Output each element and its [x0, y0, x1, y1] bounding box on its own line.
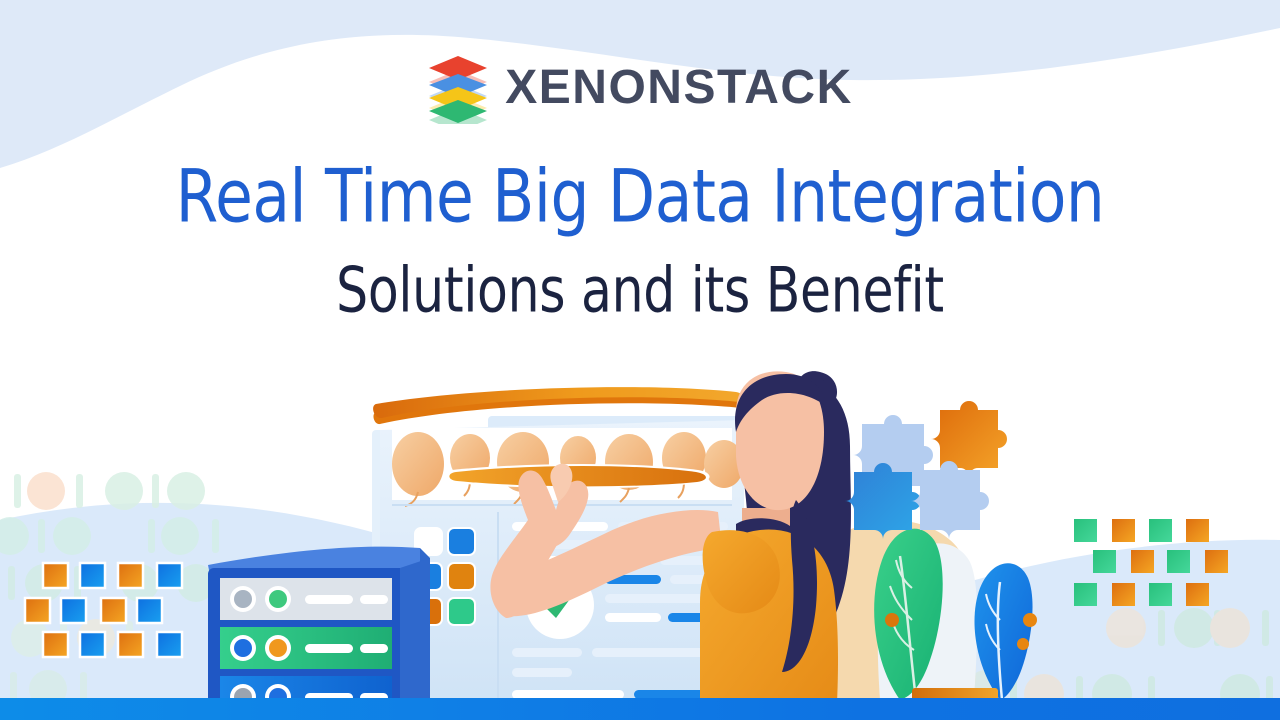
stacked-layers-logo: [427, 52, 489, 124]
puzzle-pieces: [845, 401, 1007, 539]
brand-name: XENONSTACK: [505, 64, 852, 112]
server-rack: [208, 547, 430, 720]
bottom-accent-bar: [0, 698, 1280, 720]
headline-block: Real Time Big Data Integration Solutions…: [0, 160, 1280, 312]
headline-secondary: Solutions and its Benefit: [19, 260, 1261, 322]
banner-canvas: XENONSTACK Real Time Big Data Integratio…: [0, 0, 1280, 720]
brand-header: XENONSTACK: [0, 52, 1280, 124]
headline-primary: Real Time Big Data Integration: [6, 160, 1273, 233]
